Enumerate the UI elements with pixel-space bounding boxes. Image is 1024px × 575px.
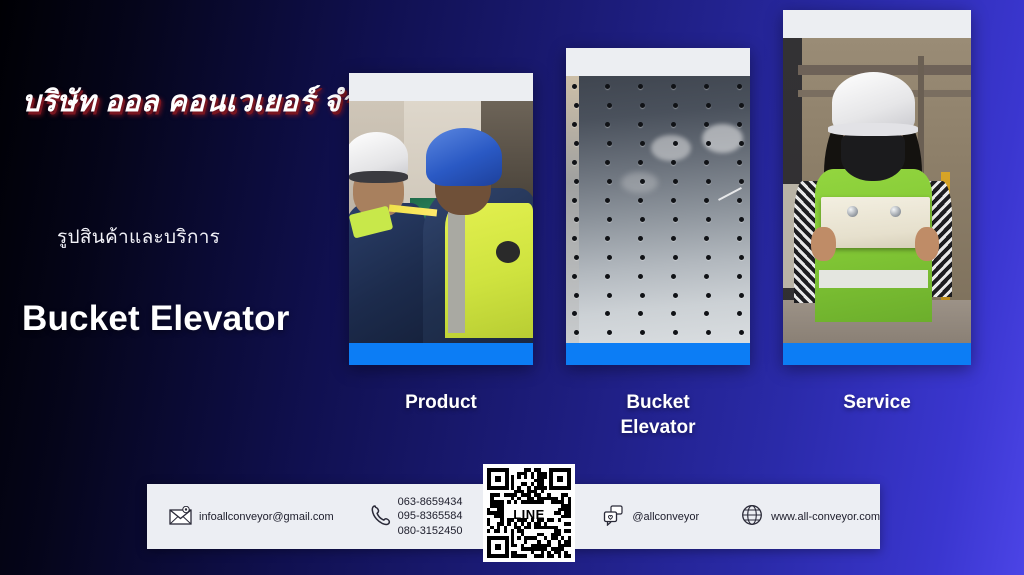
- card-label-line2: Elevator: [621, 417, 696, 438]
- card-accent-bar: [566, 343, 750, 365]
- qr-canvas: LINE: [487, 468, 571, 558]
- contact-phone-list: 063-8659434 095-8365584 080-3152450: [398, 495, 463, 539]
- card-top-band: [566, 48, 750, 76]
- slide-canvas: บริษัท ออล คอนเวเยอร์ จำกัด รูปสินค้าและ…: [0, 0, 1024, 575]
- line-qr-code[interactable]: LINE: [483, 464, 575, 562]
- card-label-service: Service: [783, 390, 971, 415]
- page-title: Bucket Elevator: [22, 299, 290, 339]
- photo-product: [349, 101, 533, 343]
- qr-finder-tl: [487, 468, 509, 490]
- card-label-bucket-elevator: Bucket Elevator: [566, 390, 750, 440]
- contact-website-text: www.all-conveyor.com: [771, 511, 880, 523]
- envelope-icon: [169, 506, 195, 528]
- slide-subtitle: รูปสินค้าและบริการ: [57, 222, 220, 252]
- contact-social-text: @allconveyor: [632, 511, 699, 523]
- card-service[interactable]: [783, 10, 971, 365]
- photo-bucket-elevator: [566, 76, 750, 343]
- contact-email[interactable]: infoallconveyor@gmail.com: [169, 506, 334, 528]
- qr-finder-bl: [487, 536, 509, 558]
- social-chat-icon: [603, 505, 628, 529]
- contact-website[interactable]: www.all-conveyor.com: [741, 504, 880, 529]
- company-name: บริษัท ออล คอนเวเยอร์ จำกัด: [22, 78, 394, 124]
- card-label-line1: Bucket: [626, 392, 689, 413]
- photo-service: [783, 38, 971, 343]
- card-top-band: [783, 10, 971, 38]
- contact-email-text: infoallconveyor@gmail.com: [199, 511, 334, 523]
- card-accent-bar: [783, 343, 971, 365]
- phone-1: 063-8659434: [398, 495, 463, 510]
- contact-phone[interactable]: 063-8659434 095-8365584 080-3152450: [370, 495, 463, 539]
- card-accent-bar: [349, 343, 533, 365]
- card-bucket-elevator[interactable]: [566, 48, 750, 365]
- phone-3: 080-3152450: [398, 524, 463, 539]
- phone-icon: [370, 503, 394, 530]
- card-product[interactable]: [349, 73, 533, 365]
- globe-icon: [741, 504, 763, 529]
- phone-2: 095-8365584: [398, 509, 463, 524]
- card-label-product: Product: [349, 390, 533, 415]
- card-top-band: [349, 73, 533, 101]
- contact-social[interactable]: @allconveyor: [603, 505, 699, 529]
- qr-finder-tr: [549, 468, 571, 490]
